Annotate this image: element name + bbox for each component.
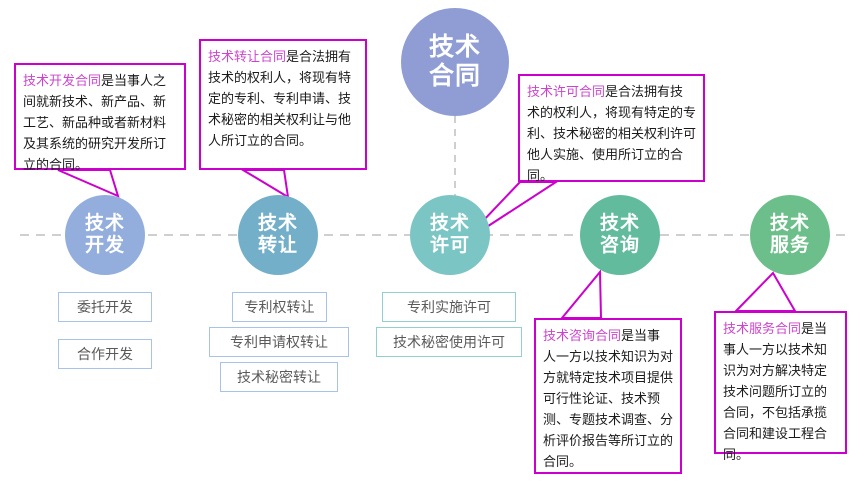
node-line-2: 咨询 [600,235,640,257]
chip-entrusted-development[interactable]: 委托开发 [58,292,152,322]
transfer-callout-tail [243,170,288,197]
node-technology-consulting[interactable]: 技术 咨询 [580,195,660,275]
chip-cooperative-development[interactable]: 合作开发 [58,339,152,369]
node-line-2: 服务 [770,235,810,257]
chip-patent-right-transfer[interactable]: 专利权转让 [232,292,327,322]
node-technology-license[interactable]: 技术 许可 [410,195,490,275]
callout-keyword: 技术咨询合同 [543,328,621,343]
node-line-2: 转让 [258,235,298,257]
root-node-line-1: 技术 [429,33,481,63]
node-line-1: 技术 [770,213,810,235]
node-technology-service[interactable]: 技术 服务 [750,195,830,275]
callout-technology-consulting: 技术咨询合同是当事人一方以技术知识为对方就特定技术项目提供可行性论证、技术预测、… [534,318,682,474]
node-line-2: 开发 [85,235,125,257]
callout-technology-service: 技术服务合同是当事人一方以技术知识为对方解决特定技术问题所订立的合同，不包括承揽… [714,311,847,454]
chip-patent-implementation-license[interactable]: 专利实施许可 [382,292,516,322]
node-technology-development[interactable]: 技术 开发 [65,195,145,275]
node-technology-transfer[interactable]: 技术 转让 [238,195,318,275]
chip-trade-secret-transfer[interactable]: 技术秘密转让 [220,362,338,392]
callout-keyword: 技术服务合同 [723,321,801,336]
root-node-technology-contract[interactable]: 技术 合同 [401,8,509,116]
node-line-2: 许可 [430,235,470,257]
chip-patent-application-transfer[interactable]: 专利申请权转让 [209,327,349,357]
callout-technology-transfer: 技术转让合同是合法拥有技术的权利人，将现有特定的专利、专利申请、技术秘密的相关权… [199,39,367,170]
callout-technology-development: 技术开发合同是当事人之间就新技术、新产品、新工艺、新品种或者新材料及其系统的研究… [14,63,186,170]
callout-body: 是当事人一方以技术知识为对方解决特定技术问题所订立的合同，不包括承揽合同和建设工… [723,321,827,462]
callout-keyword: 技术开发合同 [23,73,101,88]
callout-keyword: 技术许可合同 [527,84,605,99]
diagram-canvas: 技术 合同 技术 开发 技术 转让 技术 许可 技术 咨询 技术 服务 委托开发… [0,0,866,489]
callout-technology-license: 技术许可合同是合法拥有技术的权利人，将现有特定的专利、技术秘密的相关权利许可他人… [518,74,705,182]
node-line-1: 技术 [258,213,298,235]
service-callout-tail [736,273,795,311]
node-line-1: 技术 [600,213,640,235]
callout-body: 是当事人一方以技术知识为对方就特定技术项目提供可行性论证、技术预测、专题技术调查… [543,328,673,469]
node-line-1: 技术 [430,213,470,235]
chip-trade-secret-use-license[interactable]: 技术秘密使用许可 [376,327,522,357]
callout-keyword: 技术转让合同 [208,49,286,64]
consult-callout-tail [562,272,601,318]
root-node-line-2: 合同 [429,62,481,92]
node-line-1: 技术 [85,213,125,235]
